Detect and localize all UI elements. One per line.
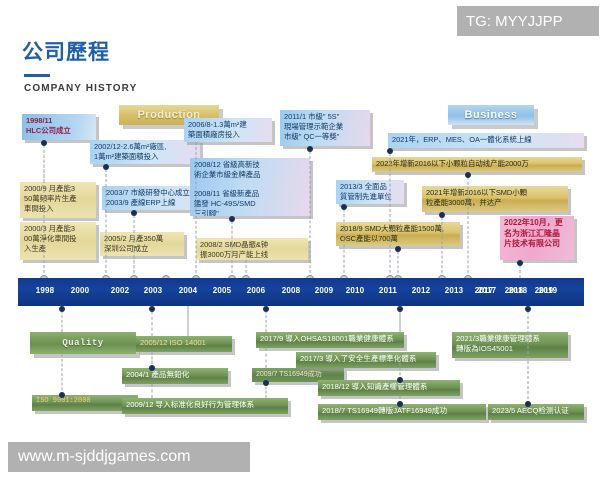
dot-2008 [229, 216, 235, 222]
connector-2022-capacity [468, 172, 469, 278]
dot-2018-iatf [397, 401, 403, 407]
year-label: 2010 [346, 286, 365, 295]
connector-2013 [344, 204, 345, 278]
event-box-2018-iatf16949: 2018/7 TS16949轉版JATF16949成功 [318, 404, 486, 420]
title-underline [24, 74, 50, 77]
dot-2013 [341, 204, 347, 210]
event-box-2005: 2005/2 月產350萬 深圳公司成立 [100, 232, 184, 256]
dot-iso9001 [59, 392, 65, 398]
event-box-2011: 2011/1 市級" 5S" 現場管理示範企業 市級" QC一等獎" [280, 110, 370, 146]
dot-2017 [263, 306, 269, 312]
dot-2020-lower [397, 306, 403, 312]
dot-2018-ip [397, 377, 403, 383]
event-box-2018-ip: 2018/12 導入知識產權管理體系 [318, 380, 460, 396]
year-label: 2002 [111, 286, 130, 295]
dot-2004 [149, 365, 155, 371]
year-label: 2000 [71, 286, 90, 295]
connector-2021-smd [442, 212, 443, 278]
event-box-2023-aecq: 2023/5 AECQ检测认证 [488, 404, 584, 420]
dot-2002 [103, 164, 109, 170]
connector-2009-std [152, 384, 153, 398]
year-label: 2018 [509, 286, 528, 295]
event-box-2008-feb: 2008/2 SMD晶振&钟 振3000万月产能上线 [196, 238, 308, 260]
dot-2005 [149, 306, 155, 312]
dot-2022-cap [465, 172, 471, 178]
event-box-2002: 2002/12-2.6萬m²廠區, 1萬m²建築面積投入 [90, 140, 200, 164]
site-watermark: www.m-sjddjgames.com [8, 442, 250, 472]
year-label: 2005 [213, 286, 232, 295]
timeline-axis: 1998 2000 2002 2003 2004 2005 2006 2008 … [18, 278, 584, 306]
event-box-2021-smd: 2021年增新2016以下SMD小顆 粒產能3000萬，并达产 [422, 186, 568, 212]
dot-2021-smd [439, 212, 445, 218]
connector-2000 [44, 140, 45, 182]
year-label: 2009 [315, 286, 334, 295]
connector-iso9001 [62, 354, 63, 395]
event-box-2021-ios45001: 2021/3職業健康管理體系 轉版為IOS45001 [452, 332, 568, 358]
connector-2023-aecq [528, 306, 529, 404]
year-label: 2013 [445, 286, 464, 295]
dot-2011 [307, 146, 313, 152]
dot-2023 [525, 306, 531, 312]
year-label: 2012 [412, 286, 431, 295]
page-subtitle: COMPANY HISTORY [24, 83, 137, 94]
event-box-2021-erp: 2021年，ERP、MES、OA一體化系統上線 [388, 133, 584, 148]
event-box-2000-mar: 2000/3 月產能3 00萬淨化車間投 入生產 [20, 222, 96, 260]
event-box-2006: 2006/8-1.3萬m²建 築面積廠房投入 [184, 118, 272, 142]
dot-1998 [41, 140, 47, 146]
dot-2018-sep [395, 246, 401, 252]
section-label-quality: Quality [30, 332, 136, 354]
event-box-2013: 2013/3 全面品 質管制先進單位 [336, 180, 404, 204]
event-box-2022-capacity: 2022年增新2016以下小颗粒自动线产能2000万 [372, 157, 582, 172]
event-box-2009-standardization: 2009/12 导入标准化良好行为管理体系 [122, 398, 288, 414]
connector-2008-dec [232, 216, 233, 278]
tg-watermark: TG: MYYJJPP [457, 6, 599, 36]
infographic-canvas: 公司歷程 COMPANY HISTORY Production Business… [0, 0, 600, 480]
year-label: 2006 [247, 286, 266, 295]
event-box-2008-dec: 2008/12 省級高新技 術企業市級金牌產品 2008/11 省級新產品 鑑發… [190, 158, 310, 216]
section-label-business: Business [448, 105, 534, 125]
year-label: 1998 [36, 286, 55, 295]
dot-2003 [131, 210, 137, 216]
event-box-2022-rename: 2022年10月，更 名为浙江汇隆晶 片技术有限公司 [500, 216, 574, 260]
connector-2009-ts [266, 348, 267, 368]
event-box-2004-lead-free: 2004/1 產品無鉛化 [122, 368, 228, 384]
event-box-2017-safety: 2017/3 導入了安全生產標準化體系 [296, 352, 436, 368]
connector-2006 [196, 142, 197, 278]
dot-2023-box [525, 401, 531, 407]
dot-2022-rename [517, 260, 523, 266]
connector-2002 [106, 164, 107, 278]
year-label: 2003 [144, 286, 163, 295]
connector-2021-erp [390, 148, 391, 278]
year-label: 2008 [282, 286, 301, 295]
dot-quality [59, 306, 65, 312]
page-title: 公司歷程 [22, 42, 110, 63]
year-label: 2017 [478, 286, 497, 295]
event-box-2017-ohsas18001: 2017/9 導入OHSAS18001職業健康體系 [256, 332, 404, 348]
event-box-2000-sep: 2000/9 月產能3 50萬頻率片生產 車間投入 [20, 182, 96, 218]
event-box-1998: 1998/11 HLC公司成立 [22, 114, 96, 140]
event-box-2005-iso14001: 2005/12 ISO 14001 [136, 336, 232, 352]
connector-2011 [310, 146, 311, 278]
year-label: 2004 [179, 286, 198, 295]
dot-2009-ts [263, 380, 269, 386]
year-label: 2019 [539, 286, 558, 295]
dot-2021-erp [387, 148, 393, 154]
connector-2005-solid [188, 306, 189, 336]
year-label: 2011 [379, 286, 397, 295]
